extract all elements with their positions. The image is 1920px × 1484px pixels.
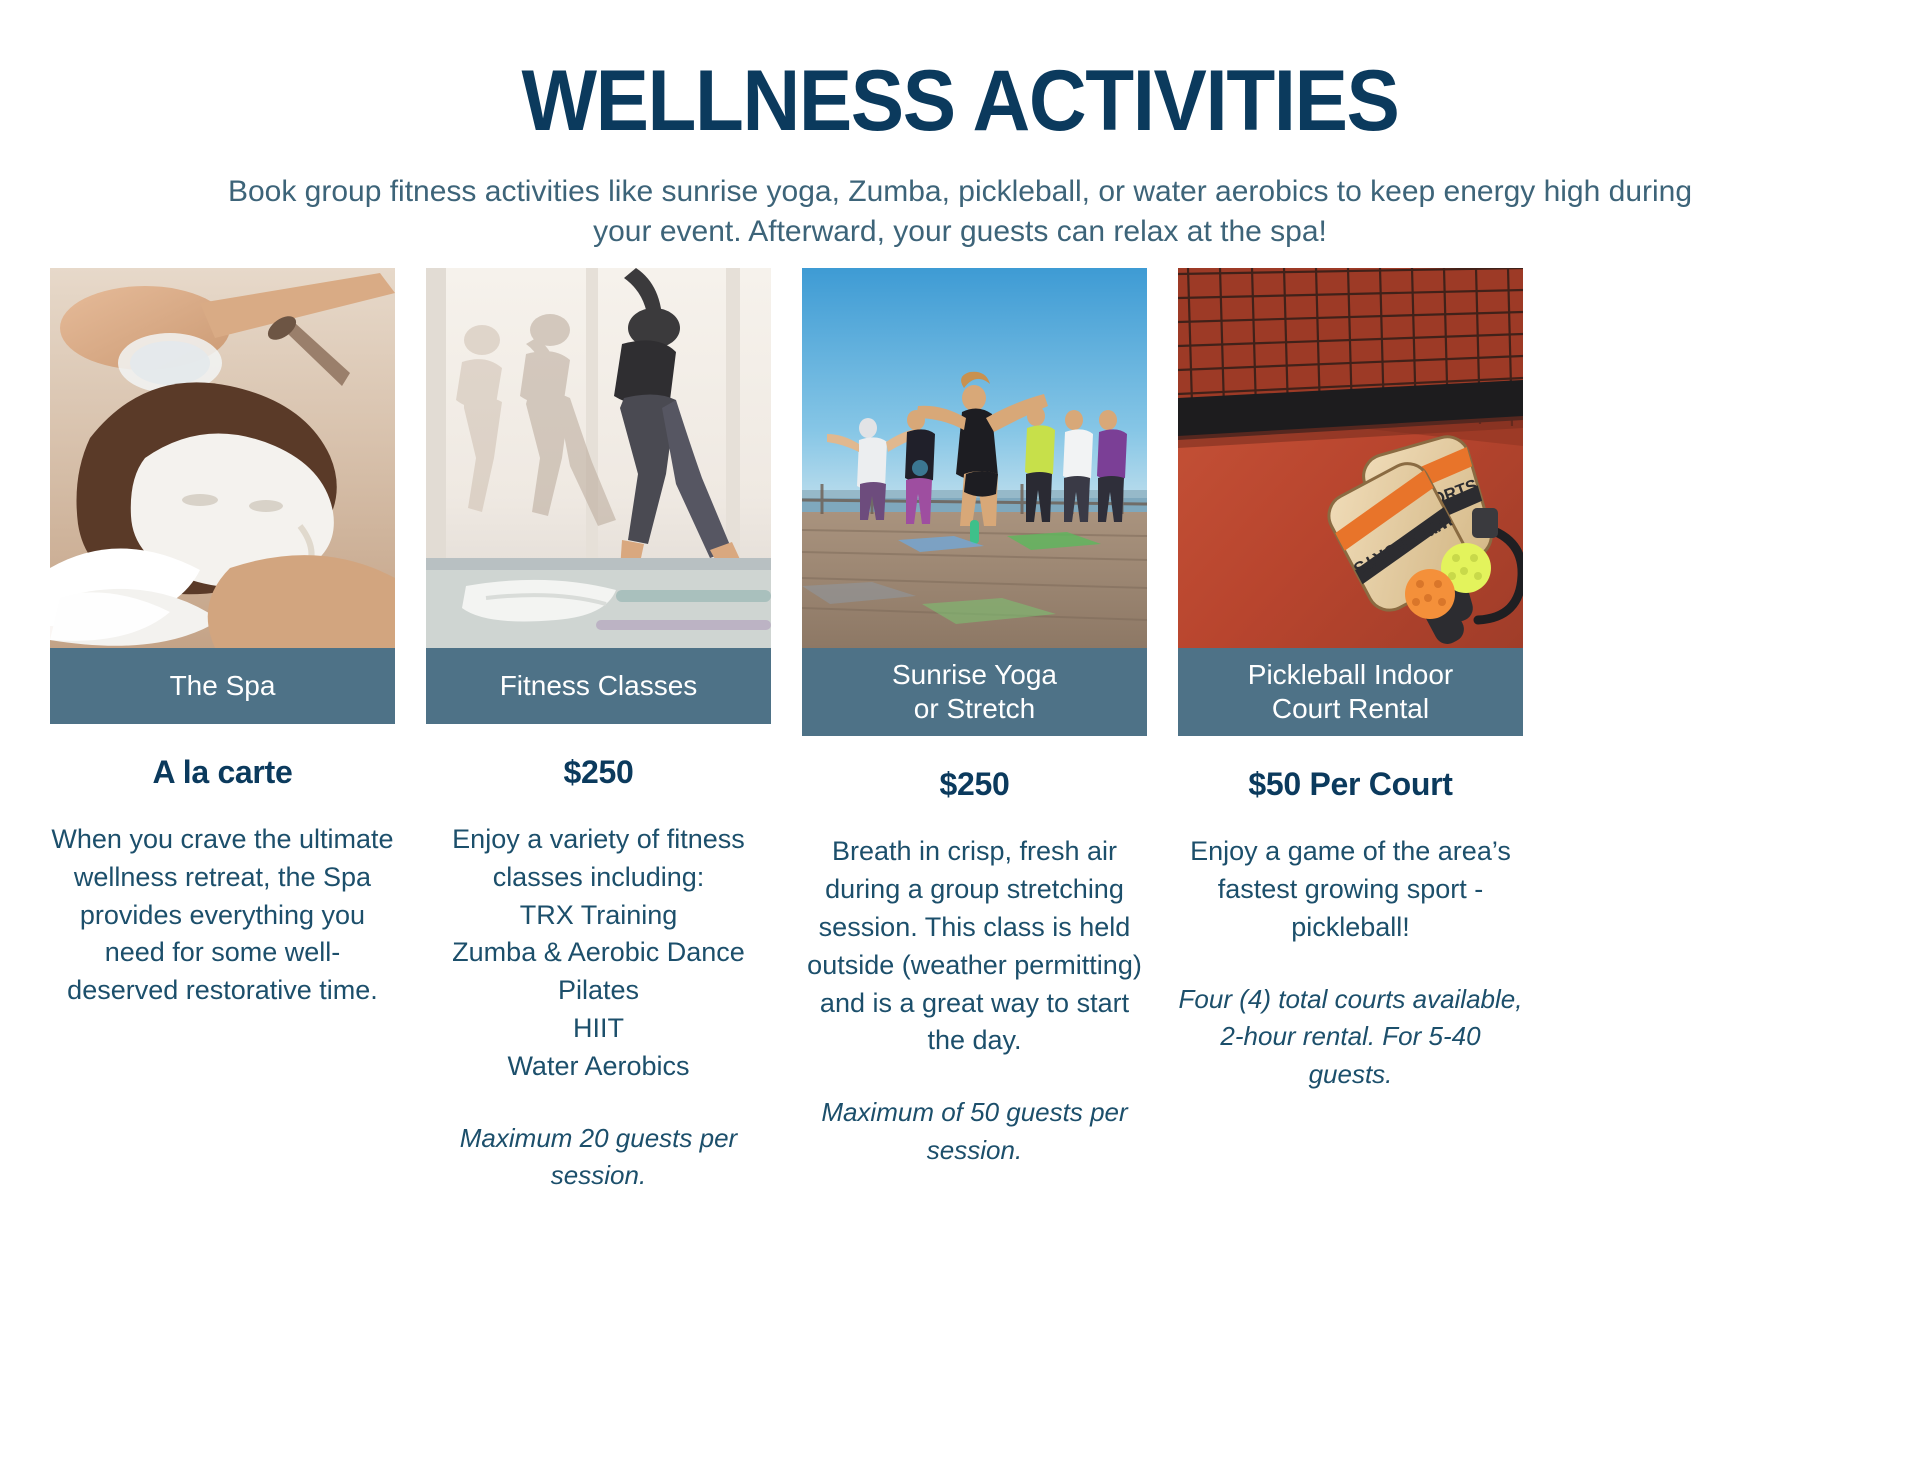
card-label-pickleball: Pickleball Indoor Court Rental — [1178, 648, 1523, 736]
card-body-sunrise-yoga: Breath in crisp, fresh air during a grou… — [802, 833, 1147, 1060]
wellness-activities-page: WELLNESS ACTIVITIES Book group fitness a… — [0, 0, 1920, 1484]
activity-card-sunrise-yoga: Sunrise Yoga or Stretch $250 Breath in c… — [802, 268, 1147, 1169]
page-title: WELLNESS ACTIVITIES — [67, 58, 1853, 144]
card-price-fitness-classes: $250 — [564, 754, 634, 791]
card-body-the-spa: When you crave the ultimate wellness ret… — [50, 821, 395, 1010]
activity-card-pickleball: WIN SPORTS WIN SPORTS — [1178, 268, 1523, 1094]
activity-card-fitness-classes: Fitness Classes $250 Enjoy a variety of … — [426, 268, 771, 1195]
card-price-the-spa: A la carte — [153, 754, 293, 791]
card-note-pickleball: Four (4) total courts available, 2-hour … — [1178, 981, 1523, 1094]
spa-facial-treatment-photo — [50, 268, 395, 648]
card-body-fitness-classes: Enjoy a variety of fitness classes inclu… — [426, 821, 771, 1086]
activity-card-grid: The Spa A la carte When you crave the ul… — [50, 268, 1870, 1195]
page-subtitle: Book group fitness activities like sunri… — [215, 172, 1705, 251]
card-price-pickleball: $50 Per Court — [1248, 766, 1452, 803]
yoga-class-studio-photo — [426, 268, 771, 648]
card-price-sunrise-yoga: $250 — [940, 766, 1010, 803]
outdoor-sunrise-yoga-deck-photo — [802, 268, 1147, 648]
pickleball-paddles-court-photo: WIN SPORTS WIN SPORTS — [1178, 268, 1523, 648]
card-note-sunrise-yoga: Maximum of 50 guests per session. — [802, 1094, 1147, 1169]
card-label-the-spa: The Spa — [50, 648, 395, 724]
page-header: WELLNESS ACTIVITIES Book group fitness a… — [0, 0, 1920, 251]
activity-card-the-spa: The Spa A la carte When you crave the ul… — [50, 268, 395, 1010]
card-label-fitness-classes: Fitness Classes — [426, 648, 771, 724]
card-note-fitness-classes: Maximum 20 guests per session. — [426, 1120, 771, 1195]
card-body-pickleball: Enjoy a game of the area’s fastest growi… — [1178, 833, 1523, 946]
card-label-sunrise-yoga: Sunrise Yoga or Stretch — [802, 648, 1147, 736]
